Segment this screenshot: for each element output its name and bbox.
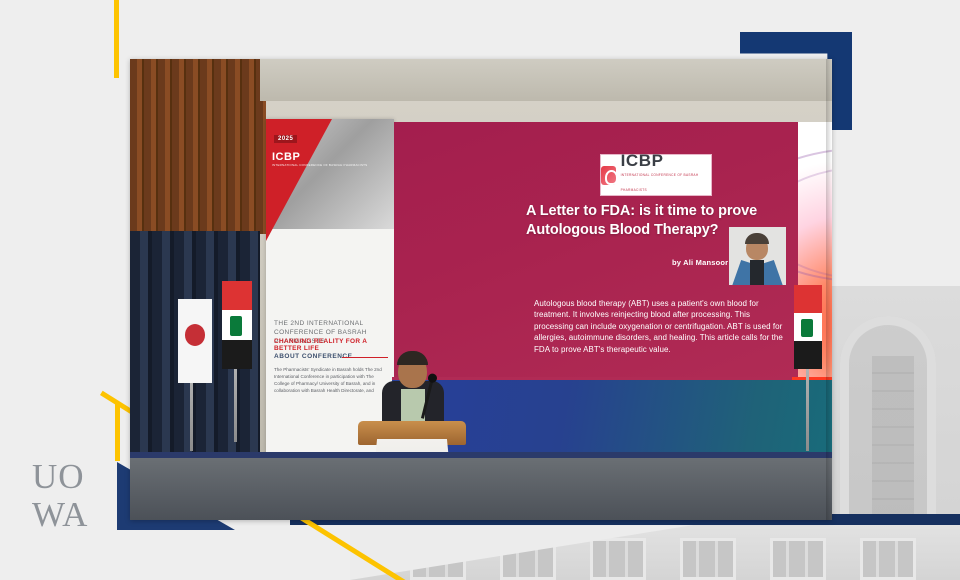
banner-rule <box>342 357 388 358</box>
conference-rollup-banner: 2025 ICBP INTERNATIONAL CONFERENCE OF BA… <box>266 119 394 509</box>
slide-byline: by Ali Mansoor <box>672 258 728 267</box>
slide-icbp-text: ICBP INTERNATIONAL CONFERENCE OF BASRAH … <box>621 153 711 198</box>
slide-body-text: Autologous blood therapy (ABT) uses a pa… <box>534 298 786 355</box>
hall-floor <box>130 458 832 520</box>
banner-tagline: CHANGING REALITY FOR A BETTER LIFE <box>274 338 390 352</box>
banner-body-text: The Pharmacists' Syndicate in Basrah hol… <box>274 366 386 394</box>
speaker-headshot <box>729 227 786 285</box>
conference-photo: 2025 ICBP INTERNATIONAL CONFERENCE OF BA… <box>130 59 832 520</box>
photo-shadow <box>826 59 832 520</box>
slide-icbp-sub: INTERNATIONAL CONFERENCE OF BASRAH PHARM… <box>621 168 711 198</box>
banner-icbp-sub: INTERNATIONAL CONFERENCE OF BASRAH PHARM… <box>272 163 367 167</box>
icbp-mark-icon <box>601 166 616 185</box>
banner-icbp-logo: ICBP INTERNATIONAL CONFERENCE OF BASRAH … <box>272 151 367 167</box>
slide-icbp-logo: ICBP INTERNATIONAL CONFERENCE OF BASRAH … <box>600 154 712 196</box>
banner-year: 2025 <box>274 135 297 143</box>
uowa-logo-line1: UO <box>32 458 128 496</box>
uowa-logo: UO WA <box>32 458 128 538</box>
iraq-flag-icon <box>222 281 252 369</box>
wood-panel <box>130 59 266 234</box>
hall-ceiling <box>260 59 832 101</box>
iraq-flag-icon <box>794 285 822 369</box>
uowa-logo-line2: WA <box>32 496 128 534</box>
banner-section-heading: ABOUT CONFERENCE <box>274 353 352 360</box>
yellow-accent-line-top <box>114 0 119 78</box>
page-canvas: UO WA 2025 ICBP INTERNATIONAL CONFERENCE… <box>0 0 960 580</box>
syndicate-flag-icon <box>178 299 212 383</box>
building-watermark-bottom-icon <box>350 524 960 580</box>
presentation-screen: ICBP INTERNATIONAL CONFERENCE OF BASRAH … <box>394 122 832 380</box>
